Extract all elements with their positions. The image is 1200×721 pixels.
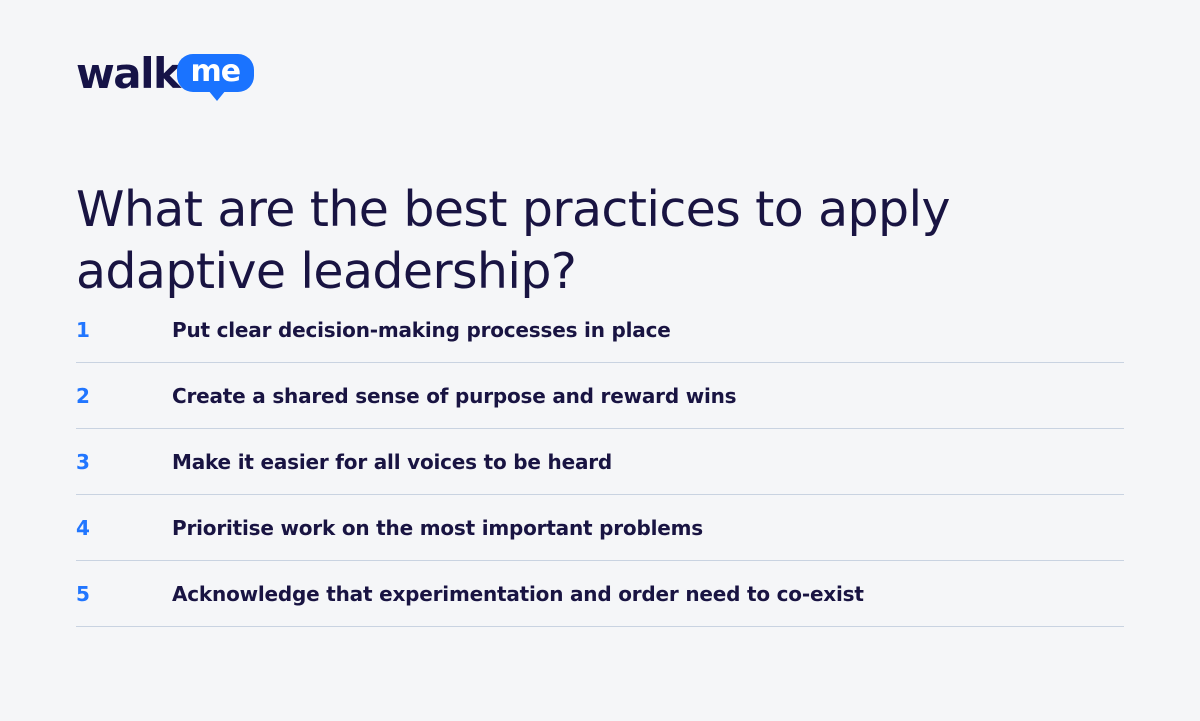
list-item-number: 5 <box>76 584 172 604</box>
list-item: 1 Put clear decision-making processes in… <box>76 297 1124 363</box>
list-item-number: 1 <box>76 320 172 340</box>
logo-bubble-tail-icon <box>208 90 226 101</box>
list-item-label: Acknowledge that experimentation and ord… <box>172 582 864 606</box>
list-item: 5 Acknowledge that experimentation and o… <box>76 561 1124 627</box>
logo-wordmark: walk <box>76 53 179 95</box>
list-item-label: Make it easier for all voices to be hear… <box>172 450 612 474</box>
list-item-number: 4 <box>76 518 172 538</box>
list-item: 4 Prioritise work on the most important … <box>76 495 1124 561</box>
best-practices-list: 1 Put clear decision-making processes in… <box>76 297 1124 627</box>
list-item-label: Create a shared sense of purpose and rew… <box>172 384 736 408</box>
infographic-page: walk me What are the best practices to a… <box>0 0 1200 721</box>
list-item: 2 Create a shared sense of purpose and r… <box>76 363 1124 429</box>
logo-speech-bubble-icon: me <box>177 54 254 92</box>
list-item-number: 2 <box>76 386 172 406</box>
logo-bubble-label: me <box>190 57 240 87</box>
walkme-logo: walk me <box>76 47 254 99</box>
page-title: What are the best practices to apply ada… <box>76 179 1036 303</box>
list-item-number: 3 <box>76 452 172 472</box>
list-item: 3 Make it easier for all voices to be he… <box>76 429 1124 495</box>
list-item-label: Put clear decision-making processes in p… <box>172 318 671 342</box>
list-item-label: Prioritise work on the most important pr… <box>172 516 703 540</box>
